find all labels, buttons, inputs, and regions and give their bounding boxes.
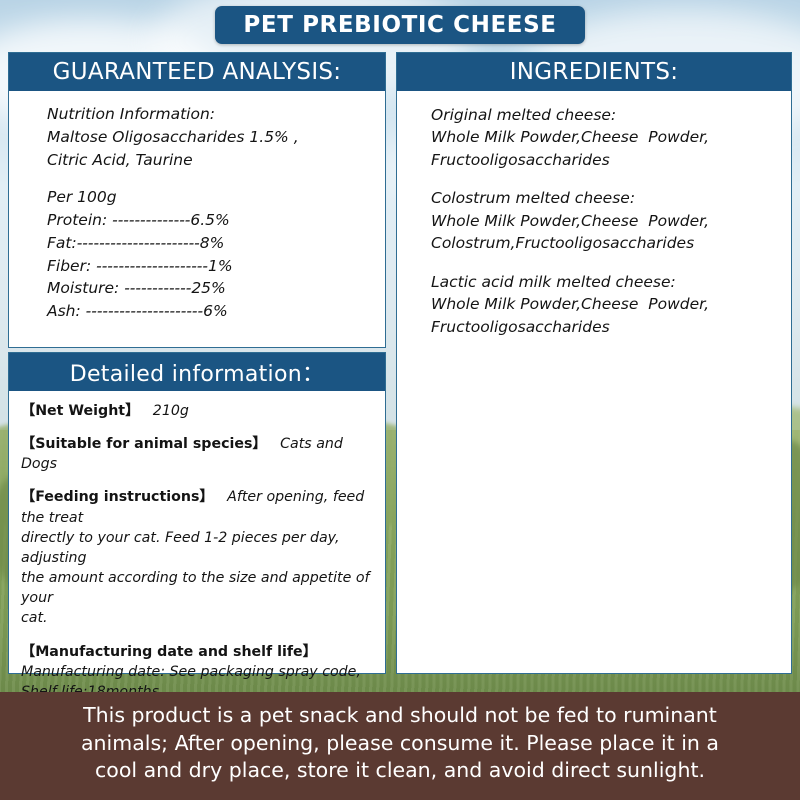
detailed-information-header-text: Detailed information： [70,356,325,388]
ingredient-line: Whole Milk Powder,Cheese Powder, [431,293,779,315]
feeding-instructions-label: 【Feeding instructions】 [21,489,214,505]
warning-line: cool and dry place, store it clean, and … [26,757,774,785]
ingredient-group: Lactic acid milk melted cheese: Whole Mi… [431,271,779,338]
per-serving-label: Per 100g [47,186,375,209]
nutrition-line: Citric Acid, Taurine [47,149,375,172]
page-title: PET PREBIOTIC CHEESE [215,6,585,44]
net-weight-label: 【Net Weight】 [21,403,139,419]
ingredient-group-name: Lactic acid milk melted cheese: [431,271,779,293]
feeding-instructions-line: the amount according to the size and app… [21,568,373,608]
nutrition-line: Maltose Oligosaccharides 1.5% , [47,126,375,149]
ingredient-line: Whole Milk Powder,Cheese Powder, [431,126,779,148]
species-label: 【Suitable for animal species】 [21,436,267,452]
page-title-text: PET PREBIOTIC CHEESE [243,12,556,38]
ingredient-line: Whole Milk Powder,Cheese Powder, [431,210,779,232]
ingredients-body: Original melted cheese: Whole Milk Powde… [397,91,791,338]
detailed-information-panel: Detailed information： 【Net Weight】 210g … [8,352,386,674]
warning-line: animals; After opening, please consume i… [26,730,774,758]
ingredient-line: Colostrum,Fructooligosaccharides [431,232,779,254]
feeding-instructions-line: directly to your cat. Feed 1-2 pieces pe… [21,528,373,568]
ingredient-line: Fructooligosaccharides [431,316,779,338]
warning-banner: This product is a pet snack and should n… [0,692,800,800]
warning-line: This product is a pet snack and should n… [26,702,774,730]
guaranteed-analysis-panel: GUARANTEED ANALYSIS: Nutrition Informati… [8,52,386,348]
shelf-life-label: 【Manufacturing date and shelf life】 [21,644,317,660]
product-label-poster: PET PREBIOTIC CHEESE GUARANTEED ANALYSIS… [0,0,800,800]
nutrition-info-label: Nutrition Information: [47,103,375,126]
analysis-row-protein: Protein: --------------6.5% [47,209,375,232]
ingredient-line: Fructooligosaccharides [431,149,779,171]
detailed-information-body: 【Net Weight】 210g 【Suitable for animal s… [9,391,385,702]
guaranteed-analysis-body: Nutrition Information: Maltose Oligosacc… [9,91,385,323]
spacer [47,171,375,186]
shelf-life-line: Manufacturing date: See packaging spray … [21,662,373,682]
feeding-instructions-line: cat. [21,608,373,628]
species-block: 【Suitable for animal species】 Cats and D… [21,434,373,474]
analysis-row-moisture: Moisture: ------------25% [47,277,375,300]
analysis-row-fiber: Fiber: --------------------1% [47,255,375,278]
net-weight-value: 210g [153,403,189,419]
analysis-row-fat: Fat:----------------------8% [47,232,375,255]
ingredients-header-text: INGREDIENTS: [510,59,679,85]
ingredient-group: Original melted cheese: Whole Milk Powde… [431,104,779,171]
ingredient-group: Colostrum melted cheese: Whole Milk Powd… [431,187,779,254]
guaranteed-analysis-header-text: GUARANTEED ANALYSIS: [53,59,342,85]
ingredients-header: INGREDIENTS: [397,53,791,91]
feeding-instructions-block: 【Feeding instructions】 After opening, fe… [21,487,373,628]
guaranteed-analysis-header: GUARANTEED ANALYSIS: [9,53,385,91]
detailed-information-header: Detailed information： [9,353,385,391]
analysis-row-ash: Ash: ---------------------6% [47,300,375,323]
ingredient-group-name: Colostrum melted cheese: [431,187,779,209]
net-weight-block: 【Net Weight】 210g [21,401,373,421]
ingredient-group-name: Original melted cheese: [431,104,779,126]
ingredients-panel: INGREDIENTS: Original melted cheese: Who… [396,52,792,674]
